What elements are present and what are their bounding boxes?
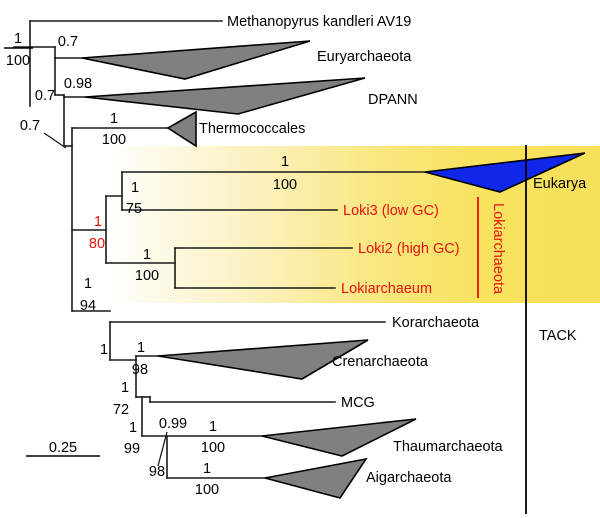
dpann-triangle [85,78,365,114]
scale-bar: 0.25 [26,440,100,456]
support-loki-clade-pp: 1 [94,214,102,230]
support-kor-cren-pp: 1 [100,342,108,358]
taxon-label-methanopyrus: Methanopyrus kandleri AV19 [227,14,411,30]
taxon-label-korarchaeota: Korarchaeota [392,315,480,331]
support-loki2-loki-pp: 1 [143,247,151,263]
support-thermococcales-pp: 1 [110,111,118,127]
group-label-tack: TACK [539,328,577,344]
taxon-label-dpann: DPANN [368,92,418,108]
taxon-label-crenarchaeota: Crenarchaeota [332,354,429,370]
support-root-pp: 1 [14,31,22,47]
group-label-lokiarchaeota: Lokiarchaeota [490,203,506,295]
support-mcg-group-pp: 1 [121,380,129,396]
support-euryarchaeota-pp: 0.7 [58,34,78,50]
support-crenarchaeota-pp: 1 [137,340,145,356]
support-root-bs: 100 [6,53,30,69]
scale-bar-label: 0.25 [49,440,77,456]
support-eukarya-bs: 100 [273,177,297,193]
support-crenarchaeota-bs: 98 [132,362,148,378]
support-tack-pp: 1 [84,276,92,292]
support-loki-euk-pp: 1 [131,180,139,196]
support-mcg-group-bs: 72 [113,402,129,418]
taxon-label-loki3: Loki3 (low GC) [343,203,439,219]
support-aigarchaeota-bs: 100 [195,482,219,498]
support-thermococcales-bs: 100 [102,132,126,148]
support-tack-loki-pp: 0.7 [20,118,40,134]
support-thaumarchaeota-bs: 100 [201,440,225,456]
taxon-label-aigarchaeota: Aigarchaeota [366,470,452,486]
support-thaum-aig-inner-pp: 0.99 [159,416,187,432]
support-loki2-loki-bs: 100 [135,268,159,284]
support-aigarchaeota-pp: 1 [203,461,211,477]
support-dpann-pp: 0.98 [64,76,92,92]
support-tack-bs: 94 [80,298,96,314]
aigarchaeota-triangle [265,459,366,498]
taxon-label-thaumarchaeota: Thaumarchaeota [393,439,504,455]
taxon-label-mcg: MCG [341,395,375,411]
support-thaum-aig-bs: 99 [124,441,140,457]
taxon-label-lokiarchaeum: Lokiarchaeum [341,281,432,297]
support-thaum-aig-pp: 1 [129,420,137,436]
taxon-label-euryarchaeota: Euryarchaeota [317,49,412,65]
support-thaum-aig-inner-bs: 98 [149,464,165,480]
phylogenetic-tree-figure: Methanopyrus kandleri AV19 Euryarchaeota… [0,0,600,518]
support-loki-clade-bs: 80 [89,236,105,252]
taxon-label-loki2: Loki2 (high GC) [358,241,460,257]
euryarchaeota-triangle [82,41,310,79]
support-eukarya-pp: 1 [281,154,289,170]
support-thaumarchaeota-pp: 1 [209,419,217,435]
support-dpann-node-pp: 0.7 [35,88,55,104]
taxon-label-eukarya: Eukarya [533,176,587,192]
thermococcales-triangle [168,112,196,146]
support-loki-euk-bs: 75 [126,201,142,217]
taxon-label-thermococcales: Thermococcales [199,121,305,137]
